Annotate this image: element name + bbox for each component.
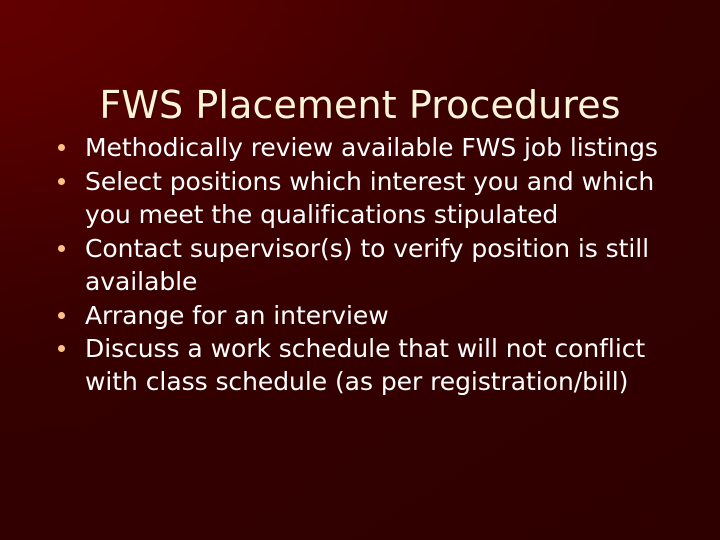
bullet-list-item: • Select positions which interest you an… (52, 165, 664, 231)
bullet-list-item: • Discuss a work schedule that will not … (52, 332, 664, 398)
bullet-list-item: • Contact supervisor(s) to verify positi… (52, 232, 664, 298)
bullet-dot-icon: • (58, 345, 65, 352)
bullet-dot-icon: • (58, 144, 65, 151)
bullet-dot-icon: • (58, 312, 65, 319)
slide-content: FWS Placement Procedures • Methodically … (0, 0, 720, 540)
bullet-list-item: • Arrange for an interview (52, 299, 664, 332)
bullet-list: • Methodically review available FWS job … (52, 131, 664, 399)
bullet-item-text: Arrange for an interview (85, 301, 389, 330)
bullet-item-text: Discuss a work schedule that will not co… (85, 334, 645, 396)
bullet-item-text: Methodically review available FWS job li… (85, 133, 658, 162)
bullet-dot-icon: • (58, 245, 65, 252)
bullet-dot-icon: • (58, 178, 65, 185)
bullet-item-text: Contact supervisor(s) to verify position… (85, 234, 649, 296)
bullet-item-text: Select positions which interest you and … (85, 167, 654, 229)
slide-title: FWS Placement Procedures (0, 83, 720, 127)
bullet-list-item: • Methodically review available FWS job … (52, 131, 664, 164)
presentation-slide: FWS Placement Procedures • Methodically … (0, 0, 720, 540)
